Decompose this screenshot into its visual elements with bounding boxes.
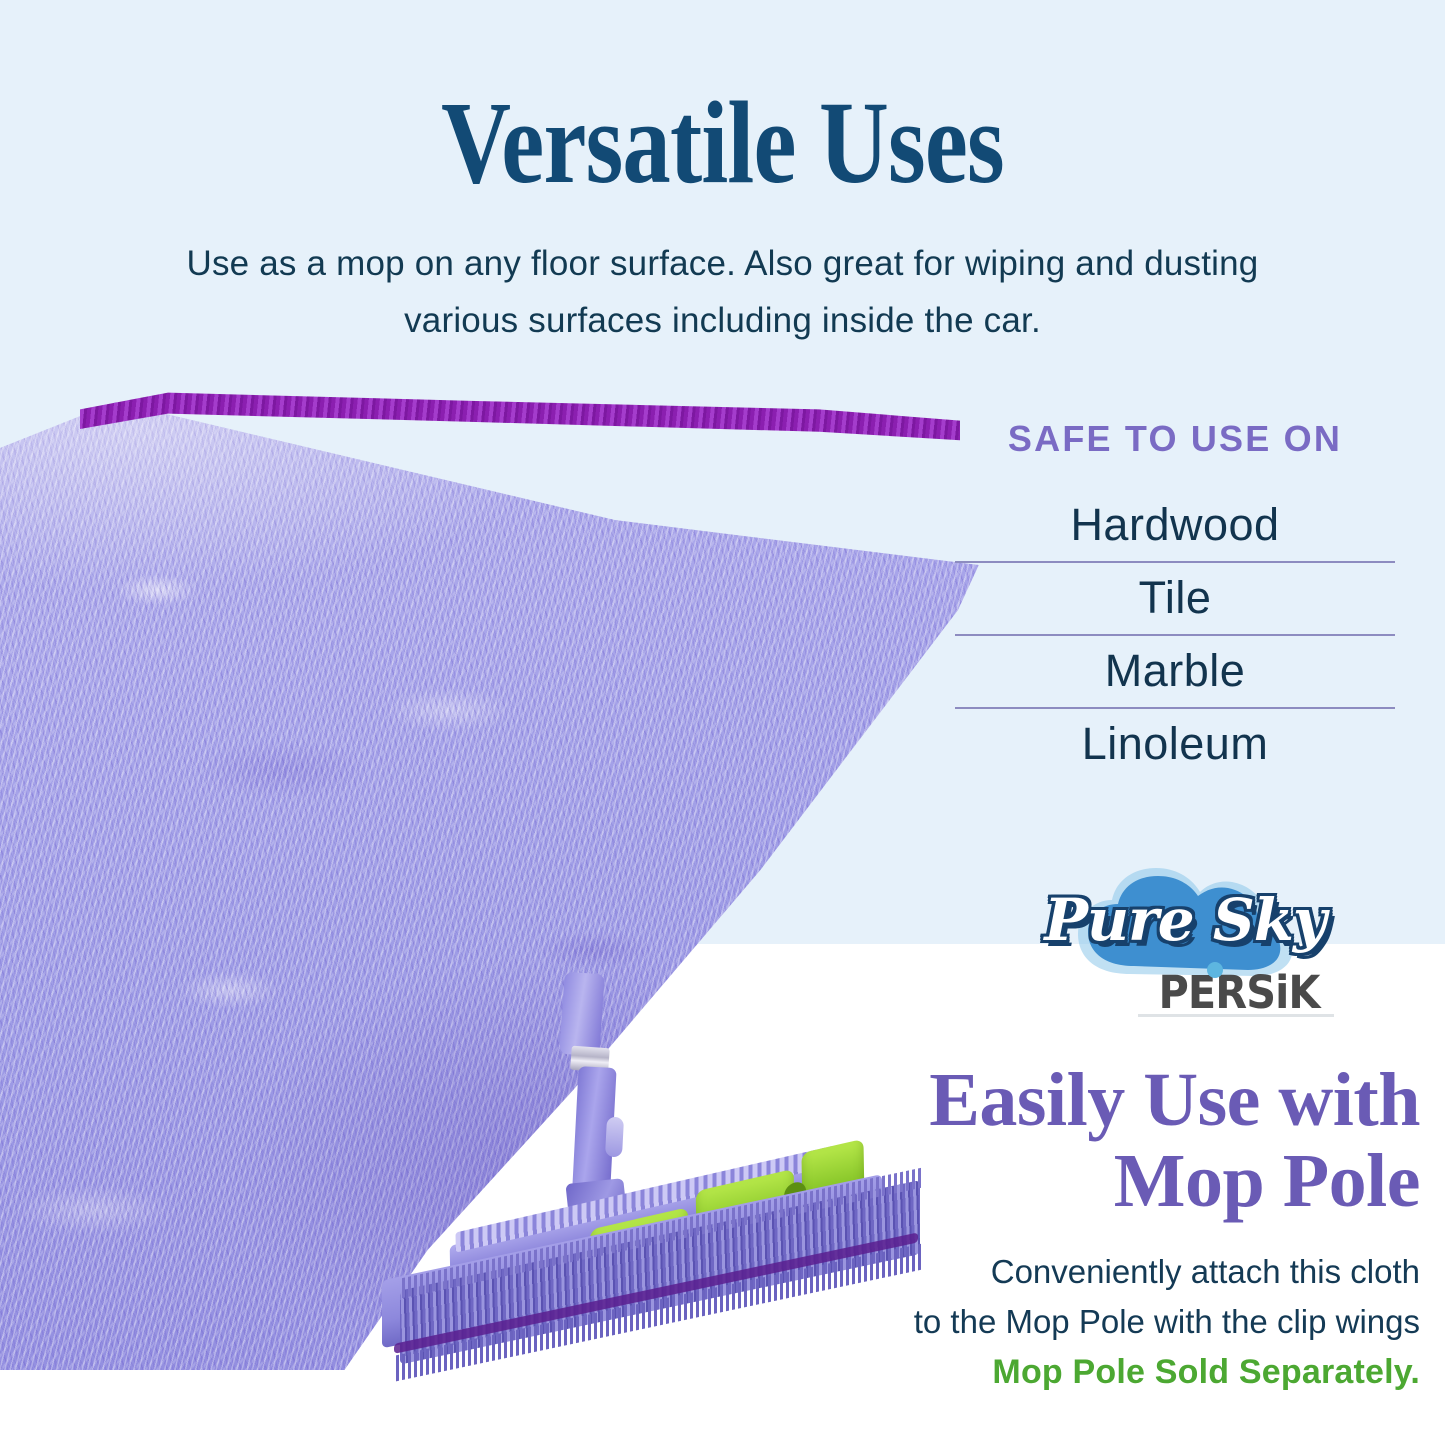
mop-pole-upper-section: [559, 972, 605, 1057]
page-title: Versatile Uses: [130, 84, 1315, 202]
safe-to-use-title: SAFE TO USE ON: [955, 418, 1395, 460]
mop-pole-description: Conveniently attach this cloth to the Mo…: [770, 1247, 1420, 1348]
sold-separately-note: Mop Pole Sold Separately.: [770, 1353, 1420, 1392]
brand-logo: Pure Sky PERSiK: [1020, 862, 1350, 1037]
safe-to-use-panel: SAFE TO USE ON Hardwood Tile Marble Lino…: [955, 418, 1395, 780]
brand-script-name: Pure Sky: [1020, 886, 1350, 954]
mop-pole-heading: Easily Use with Mop Pole: [790, 1060, 1420, 1223]
list-item: Linoleum: [955, 707, 1395, 780]
list-item: Hardwood: [955, 490, 1395, 561]
mop-pole-heading-line2: Mop Pole: [790, 1141, 1420, 1222]
safe-to-use-list: Hardwood Tile Marble Linoleum: [955, 490, 1395, 780]
persik-i-dot-icon: [1207, 962, 1223, 978]
mop-pole-heading-line1: Easily Use with: [790, 1060, 1420, 1141]
mop-pole-description-line2: to the Mop Pole with the clip wings: [770, 1297, 1420, 1347]
list-item: Tile: [955, 561, 1395, 634]
persik-underline: [1138, 1014, 1334, 1017]
list-item: Marble: [955, 634, 1395, 707]
page-subtitle: Use as a mop on any floor surface. Also …: [150, 236, 1295, 349]
mop-pole-description-line1: Conveniently attach this cloth: [770, 1247, 1420, 1297]
infographic-canvas: Versatile Uses Use as a mop on any floor…: [0, 0, 1445, 1445]
brand-wordmark: PERSiK: [1137, 966, 1341, 1019]
